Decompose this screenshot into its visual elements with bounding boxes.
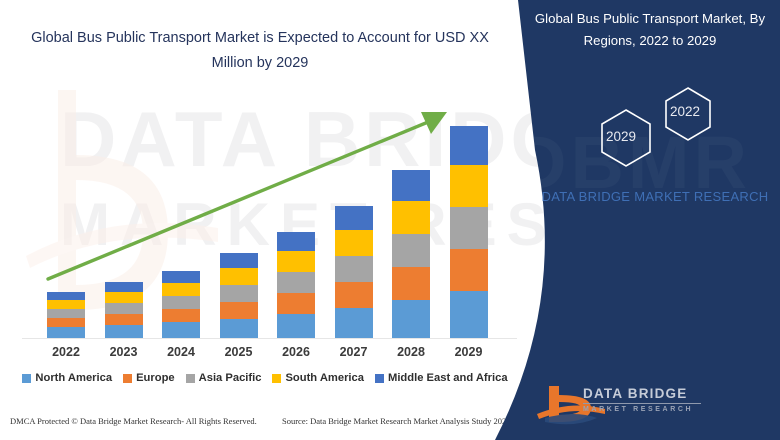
- logo-subtitle: MARKET RESEARCH: [583, 406, 701, 413]
- x-axis-tick-2029: 2029: [439, 345, 499, 359]
- green-growth-arrow-icon: [0, 0, 530, 345]
- hexagon-2029-label: 2029: [606, 129, 636, 144]
- x-axis-tick-2026: 2026: [266, 345, 326, 359]
- legend-label: North America: [35, 372, 112, 384]
- legend-label: South America: [285, 372, 364, 384]
- footer-source: Source: Data Bridge Market Research Mark…: [282, 416, 511, 426]
- right-panel: DBMR Global Bus Public Transport Market,…: [495, 0, 780, 440]
- legend-item-middle-east-and-africa[interactable]: Middle East and Africa: [375, 372, 508, 384]
- x-axis-tick-2024: 2024: [151, 345, 211, 359]
- x-axis-tick-2022: 2022: [36, 345, 96, 359]
- x-axis-tick-2023: 2023: [94, 345, 154, 359]
- legend-label: Middle East and Africa: [388, 372, 508, 384]
- chart-legend: North AmericaEuropeAsia PacificSouth Ame…: [0, 372, 530, 384]
- legend-swatch-icon: [22, 374, 31, 383]
- legend-swatch-icon: [123, 374, 132, 383]
- infographic-root: DATA BRIDGE MARKET RESEARCH Global Bus P…: [0, 0, 780, 440]
- legend-label: Europe: [136, 372, 175, 384]
- logo-wordmark: DATA BRIDGE MARKET RESEARCH: [583, 386, 701, 413]
- x-axis-tick-2028: 2028: [381, 345, 441, 359]
- panel-title: Global Bus Public Transport Market, By R…: [525, 8, 775, 52]
- legend-swatch-icon: [186, 374, 195, 383]
- hexagon-group: 2022 2029: [580, 84, 730, 174]
- hexagon-outlines: [580, 84, 730, 174]
- x-axis-tick-2025: 2025: [209, 345, 269, 359]
- legend-item-north-america[interactable]: North America: [22, 372, 112, 384]
- legend-swatch-icon: [272, 374, 281, 383]
- legend-item-south-america[interactable]: South America: [272, 372, 364, 384]
- footer: DMCA Protected © Data Bridge Market Rese…: [0, 416, 530, 436]
- panel-brand-text: DATA BRIDGE MARKET RESEARCH: [540, 186, 770, 208]
- logo-name: DATA BRIDGE: [583, 386, 701, 401]
- logo-divider: [583, 403, 701, 404]
- hexagon-2022-label: 2022: [670, 104, 700, 119]
- x-axis-tick-2027: 2027: [324, 345, 384, 359]
- legend-item-asia-pacific[interactable]: Asia Pacific: [186, 372, 262, 384]
- stacked-bar-chart: 20222023202420252026202720282029: [0, 0, 530, 345]
- legend-item-europe[interactable]: Europe: [123, 372, 175, 384]
- x-axis-labels: 20222023202420252026202720282029: [0, 345, 530, 369]
- footer-copyright: DMCA Protected © Data Bridge Market Rese…: [10, 416, 257, 426]
- legend-swatch-icon: [375, 374, 384, 383]
- legend-label: Asia Pacific: [199, 372, 262, 384]
